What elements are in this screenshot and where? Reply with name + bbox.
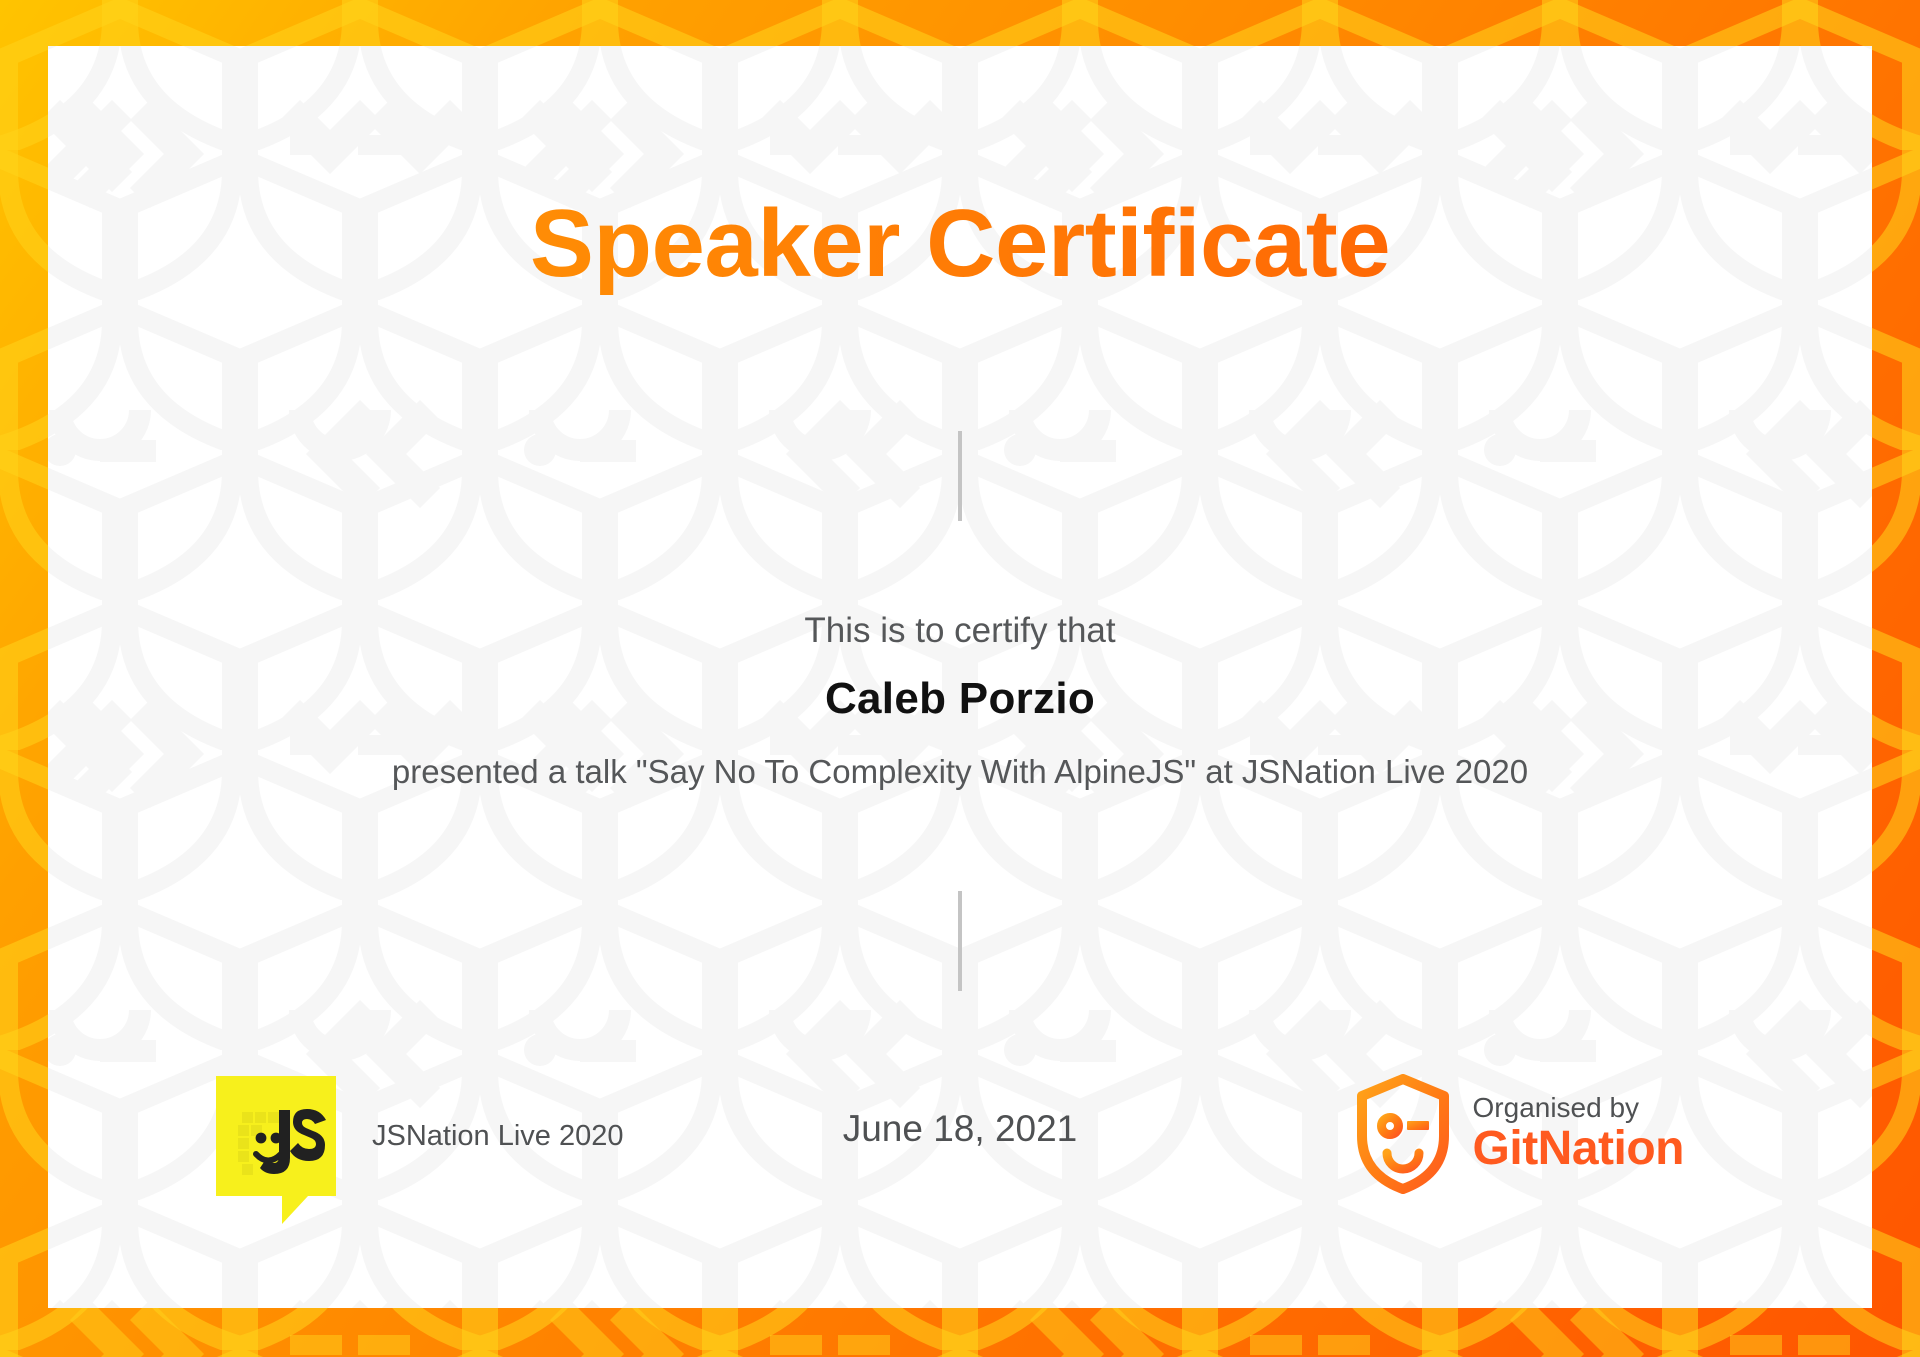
gitnation-shield-icon bbox=[1355, 1074, 1451, 1194]
organiser-label: Organised by bbox=[1473, 1093, 1684, 1123]
certify-line: This is to certify that bbox=[48, 611, 1872, 651]
talk-description: presented a talk "Say No To Complexity W… bbox=[48, 753, 1872, 791]
divider-top bbox=[958, 431, 962, 521]
certificate-footer: JSNation Live 2020 June 18, 2021 bbox=[48, 1066, 1872, 1256]
certificate-root: Speaker Certificate This is to certify t… bbox=[0, 0, 1920, 1357]
jsnation-logo-tail bbox=[282, 1196, 308, 1224]
page-title: Speaker Certificate bbox=[48, 194, 1872, 295]
organiser-name: GitNation bbox=[1473, 1123, 1684, 1175]
certificate-card: Speaker Certificate This is to certify t… bbox=[48, 46, 1872, 1308]
recipient-name: Caleb Porzio bbox=[48, 674, 1872, 724]
organiser-text: Organised by GitNation bbox=[1473, 1093, 1684, 1175]
divider-bottom bbox=[958, 891, 962, 991]
organiser-block: Organised by GitNation bbox=[1355, 1074, 1684, 1194]
